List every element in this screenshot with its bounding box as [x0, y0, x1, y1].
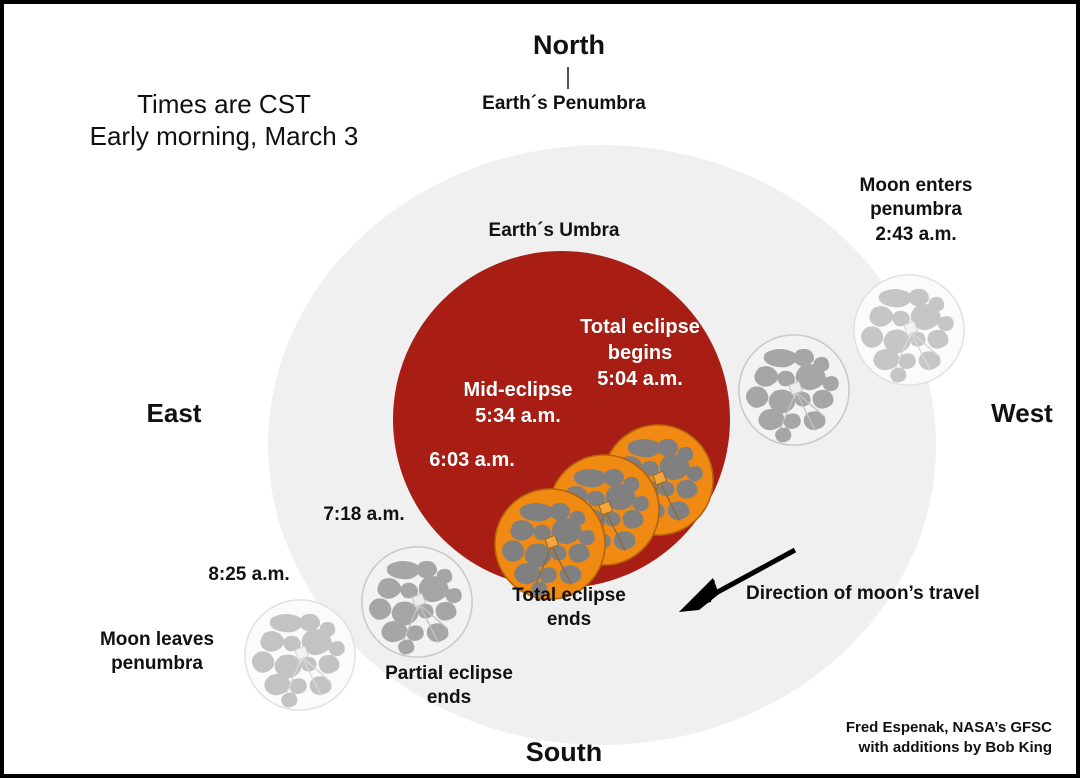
annotation-moon-leaves-penumbra: Moon leaves penumbra: [77, 628, 237, 677]
compass-label-north: North: [504, 30, 634, 60]
compass-label-west: West: [967, 399, 1077, 428]
credit-block: Fred Espenak, NASA’s GFSC with additions…: [784, 718, 1052, 759]
annotation-time-0603: 6:03 a.m.: [412, 449, 532, 471]
moon-0350: [736, 332, 852, 448]
annotation-time-0825: 8:25 a.m.: [189, 564, 309, 585]
title-line-2: Early morning, March 3: [44, 120, 404, 152]
annotation-direction-of-travel: Direction of moon’s travel: [746, 583, 1031, 604]
compass-label-east: East: [114, 399, 234, 428]
moon-0243: [851, 272, 967, 388]
annotation-mid-eclipse: Mid-eclipse 5:34 a.m.: [436, 377, 600, 429]
north-tick-mark: [567, 67, 569, 89]
credit-line-1: Fred Espenak, NASA’s GFSC: [784, 718, 1052, 738]
moon-0825: [242, 597, 358, 713]
umbra-label: Earth´s Umbra: [459, 220, 649, 241]
annotation-time-0718: 7:18 a.m.: [304, 504, 424, 525]
penumbra-label: Earth´s Penumbra: [444, 93, 684, 114]
moon-0718: [359, 544, 475, 660]
eclipse-diagram: North Earth´s Penumbra Earth´s Umbra Eas…: [0, 0, 1080, 778]
figure-title: Times are CST Early morning, March 3: [44, 88, 404, 152]
title-line-1: Times are CST: [44, 88, 404, 120]
annotation-moon-enters-penumbra: Moon enters penumbra 2:43 a.m.: [816, 174, 1016, 247]
credit-line-2: with additions by Bob King: [784, 738, 1052, 758]
annotation-partial-eclipse-ends: Partial eclipse ends: [359, 662, 539, 711]
annotation-total-eclipse-ends: Total eclipse ends: [489, 584, 649, 633]
